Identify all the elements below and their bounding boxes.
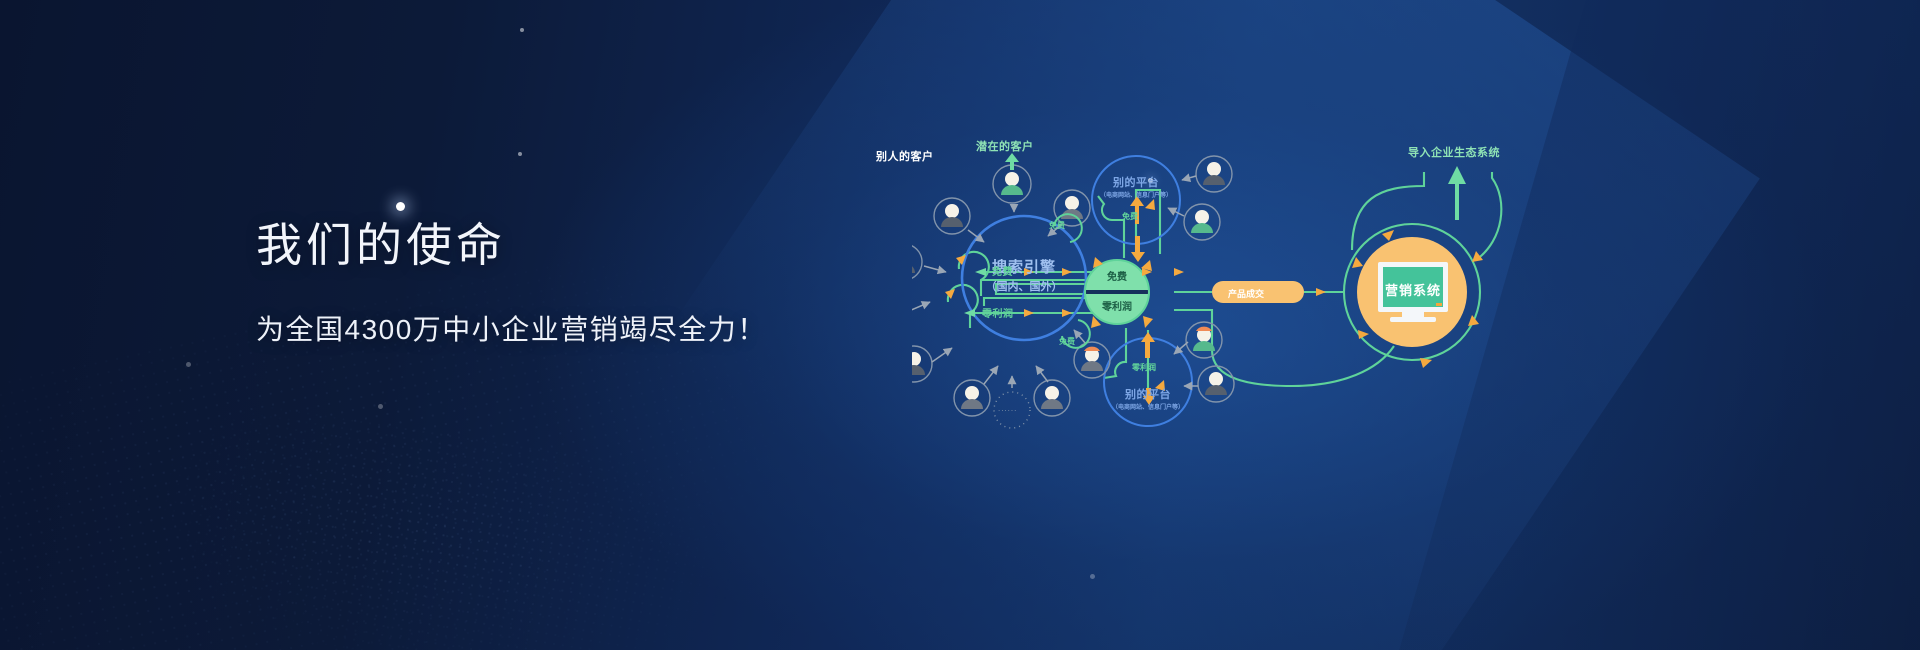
ecosystem-diagram: 别人的客户 潜在的客户 导入企业生态系统 搜索引擎 （国内、国外） 别的平台 （…: [912, 150, 1612, 580]
sparkle-dot: [186, 362, 191, 367]
hub-node: [1085, 260, 1149, 324]
search-engine-ring: [962, 216, 1086, 340]
diagram-svg: [912, 150, 1612, 580]
sparkle-dot: [396, 202, 405, 211]
background-dot-mesh-secondary: [103, 383, 756, 650]
sparkle-dot: [378, 404, 383, 409]
potential-customer-arrow: [1005, 153, 1019, 170]
page-subtitle: 为全国4300万中小企业营销竭尽全力！: [256, 308, 767, 348]
hero-copy: 我们的使命 为全国4300万中小企业营销竭尽全力！: [256, 222, 767, 348]
sparkle-dot: [520, 28, 524, 32]
hero-banner: 我们的使命 为全国4300万中小企业营销竭尽全力！: [0, 0, 1920, 650]
platform-top-arrows: [1168, 176, 1196, 216]
page-title: 我们的使命: [256, 222, 767, 268]
sparkle-dot: [518, 152, 522, 156]
ecosystem-arrow: [1448, 166, 1466, 220]
deal-pill-shape: [1212, 281, 1304, 303]
